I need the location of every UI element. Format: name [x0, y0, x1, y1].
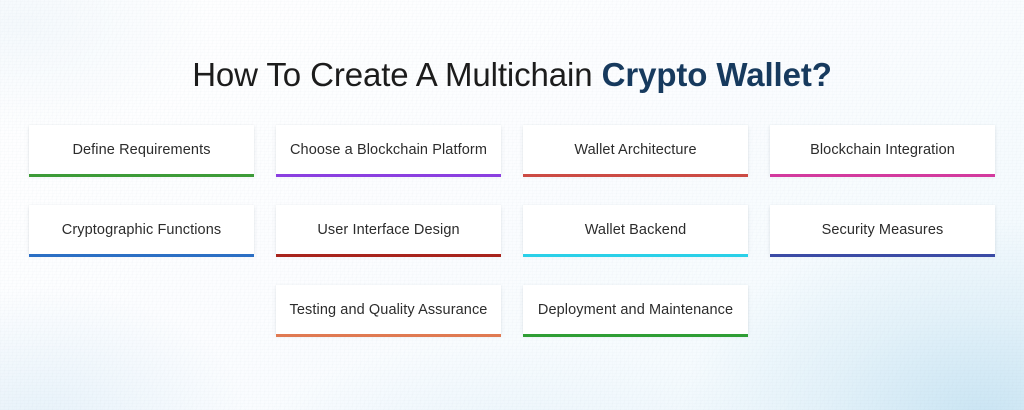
card-row-2: Cryptographic Functions User Interface D… — [0, 205, 1024, 254]
card-label: Define Requirements — [72, 141, 210, 159]
step-card-define-requirements[interactable]: Define Requirements — [29, 125, 254, 174]
card-accent-bar — [523, 334, 748, 337]
card-label: User Interface Design — [317, 221, 459, 239]
step-card-choose-a-blockchain-platform[interactable]: Choose a Blockchain Platform — [276, 125, 501, 174]
step-card-cryptographic-functions[interactable]: Cryptographic Functions — [29, 205, 254, 254]
card-accent-bar — [770, 174, 995, 177]
step-card-testing-and-quality-assurance[interactable]: Testing and Quality Assurance — [276, 285, 501, 334]
step-cards-area: Define Requirements Choose a Blockchain … — [0, 125, 1024, 365]
step-card-wallet-architecture[interactable]: Wallet Architecture — [523, 125, 748, 174]
card-accent-bar — [29, 174, 254, 177]
card-label: Deployment and Maintenance — [538, 301, 733, 319]
card-accent-bar — [276, 174, 501, 177]
card-accent-bar — [276, 254, 501, 257]
step-card-deployment-and-maintenance[interactable]: Deployment and Maintenance — [523, 285, 748, 334]
step-card-user-interface-design[interactable]: User Interface Design — [276, 205, 501, 254]
infographic-canvas: How To Create A Multichain Crypto Wallet… — [0, 0, 1024, 410]
card-label: Choose a Blockchain Platform — [290, 141, 487, 159]
card-accent-bar — [523, 254, 748, 257]
card-label: Testing and Quality Assurance — [290, 301, 488, 319]
card-accent-bar — [29, 254, 254, 257]
card-row-1: Define Requirements Choose a Blockchain … — [0, 125, 1024, 174]
page-title: How To Create A Multichain Crypto Wallet… — [0, 54, 1024, 96]
card-label: Wallet Backend — [585, 221, 687, 239]
card-label: Security Measures — [822, 221, 944, 239]
step-card-blockchain-integration[interactable]: Blockchain Integration — [770, 125, 995, 174]
page-title-accent: Crypto Wallet? — [602, 56, 832, 93]
card-accent-bar — [770, 254, 995, 257]
card-accent-bar — [523, 174, 748, 177]
page-title-plain: How To Create A Multichain — [192, 56, 601, 93]
card-label: Blockchain Integration — [810, 141, 955, 159]
card-label: Cryptographic Functions — [62, 221, 221, 239]
step-card-security-measures[interactable]: Security Measures — [770, 205, 995, 254]
card-accent-bar — [276, 334, 501, 337]
step-card-wallet-backend[interactable]: Wallet Backend — [523, 205, 748, 254]
card-label: Wallet Architecture — [574, 141, 696, 159]
card-row-3: Testing and Quality Assurance Deployment… — [0, 285, 1024, 334]
